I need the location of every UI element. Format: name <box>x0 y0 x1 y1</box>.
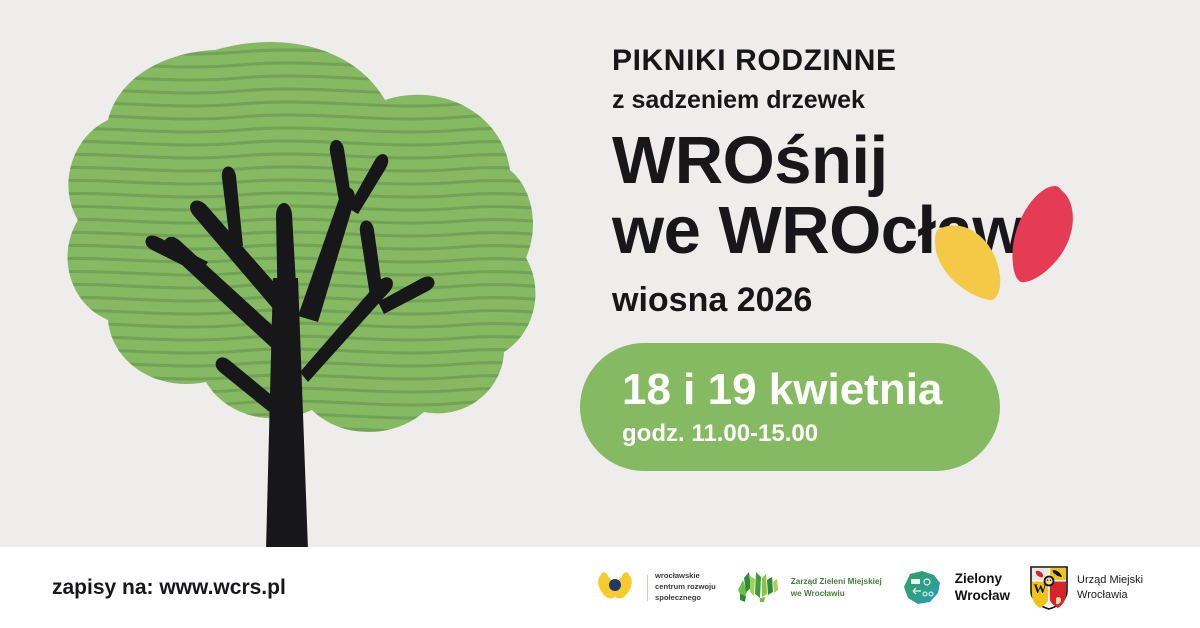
badge-date-text: 18 i 19 kwietnia <box>622 367 1000 413</box>
poster-canvas: PIKNIKI RODZINNE z sadzeniem drzewek WRO… <box>0 0 1200 628</box>
footer-bar: zapisy na: www.wcrs.pl wrocławskie centr… <box>0 547 1200 628</box>
zielony-wroclaw-logo-text: Zielony Wrocław <box>955 571 1010 604</box>
badge-time-text: godz. 11.00-15.00 <box>622 421 1000 447</box>
main-title: WROśnij we WROcław <box>612 126 1172 265</box>
zzm-mark-icon <box>734 570 784 606</box>
title-line-1: WROśnij <box>612 126 1172 196</box>
zielony-wroclaw-mark-icon <box>900 569 948 607</box>
wcrs-logo[interactable]: wrocławskie centrum rozwoju społecznego <box>596 571 716 605</box>
zielony-wroclaw-logo[interactable]: Zielony Wrocław <box>900 569 1010 607</box>
logo-strip: wrocławskie centrum rozwoju społecznego … <box>596 565 1143 611</box>
subkicker-heading: z sadzeniem drzewek <box>612 86 1172 115</box>
poster-text-content: PIKNIKI RODZINNE z sadzeniem drzewek WRO… <box>612 44 1172 319</box>
kicker-heading: PIKNIKI RODZINNE <box>612 44 1172 78</box>
title-line-2: we WROcław <box>612 196 1172 266</box>
wcrs-divider <box>647 575 648 601</box>
signup-text: zapisy na: www.wcrs.pl <box>52 576 286 600</box>
zzm-logo-text: Zarząd Zieleni Miejskiej we Wrocławiu <box>791 576 882 599</box>
tree-illustration <box>40 20 540 550</box>
wroclaw-coat-of-arms-icon: W <box>1028 565 1070 611</box>
urzad-miejski-logo-text: Urząd Miejski Wrocławia <box>1077 573 1143 602</box>
season-text: wiosna 2026 <box>612 282 1172 319</box>
urzad-miejski-wroclawia-logo[interactable]: W Urząd Miejski Wrocławia <box>1028 565 1143 611</box>
wcrs-logo-text: wrocławskie centrum rozwoju społecznego <box>655 571 716 603</box>
wcrs-mark-icon <box>596 571 640 605</box>
date-badge: 18 i 19 kwietnia godz. 11.00-15.00 <box>580 343 1000 471</box>
zarzad-zieleni-miejskiej-logo[interactable]: Zarząd Zieleni Miejskiej we Wrocławiu <box>734 570 882 606</box>
